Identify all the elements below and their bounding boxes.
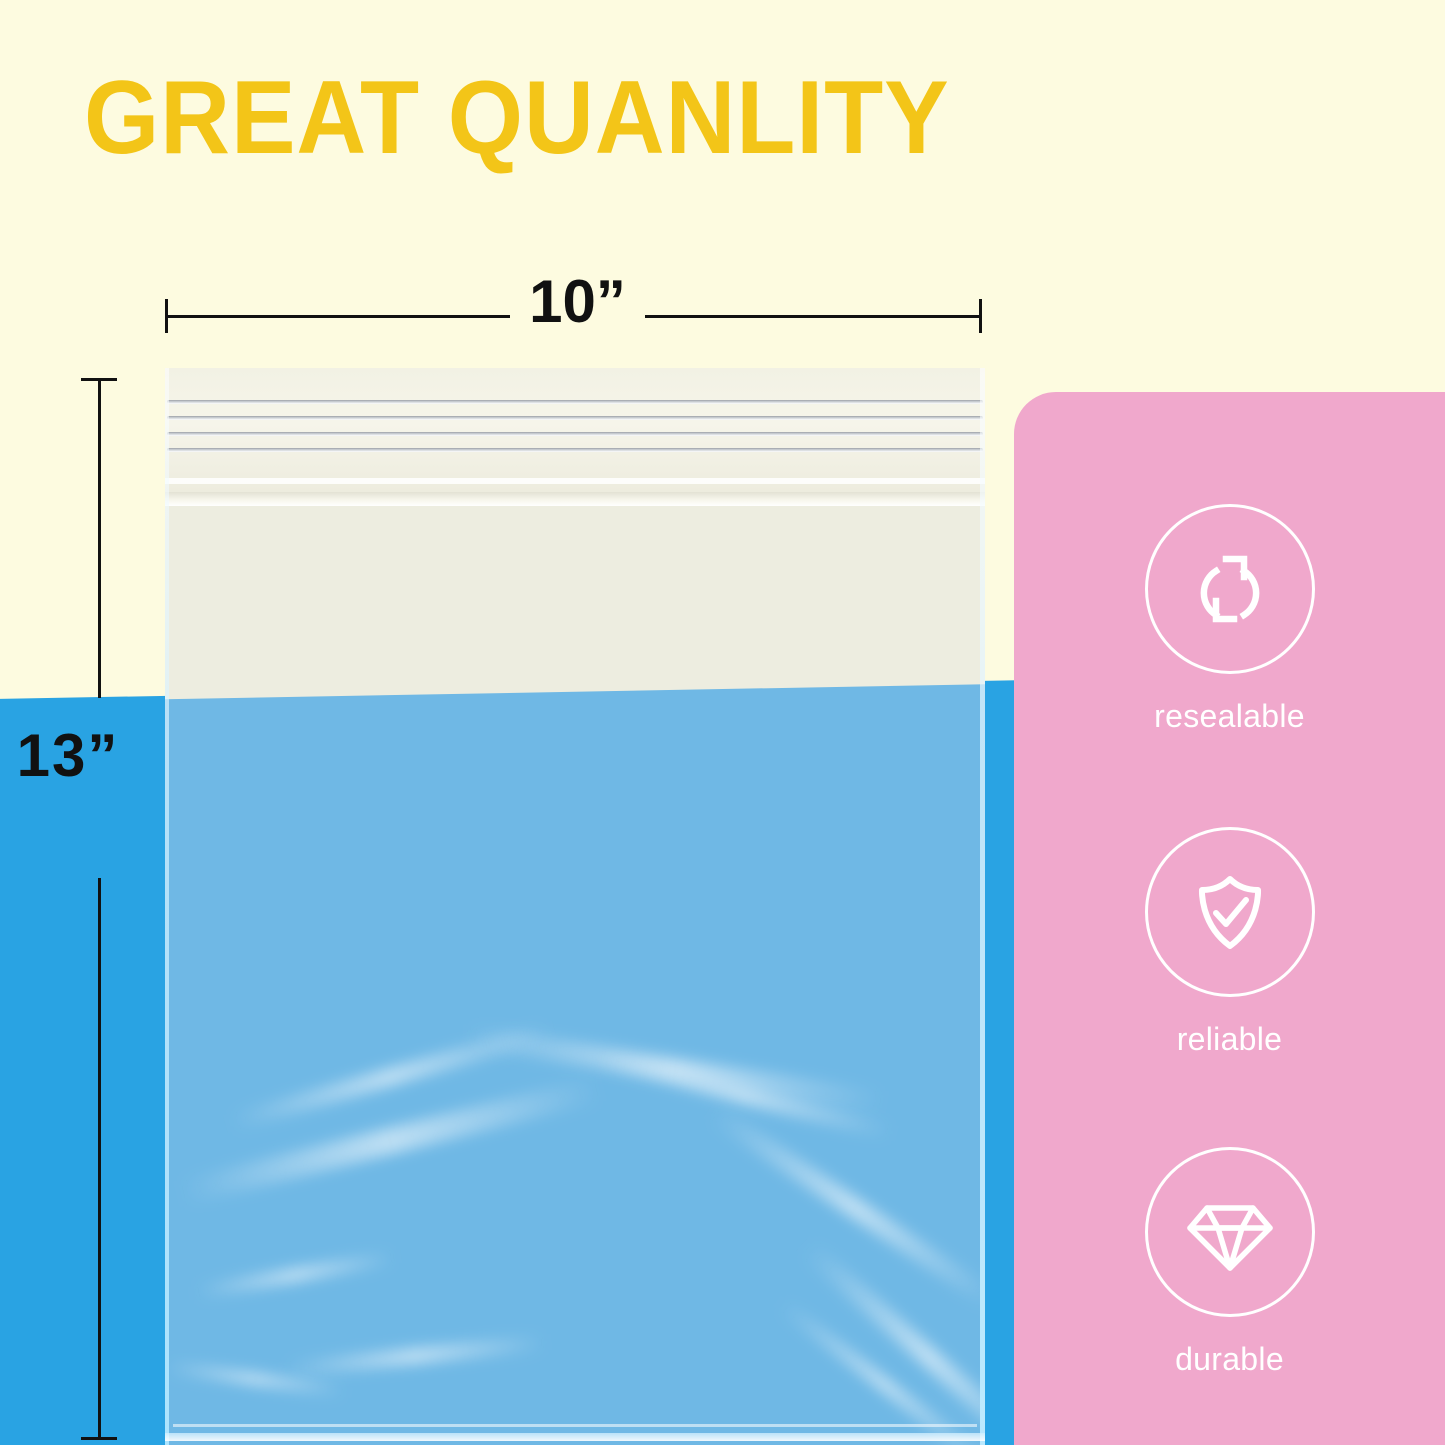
height-dimension-label: 13” [2,726,134,786]
bag-zipper-gusset [165,478,985,484]
diamond-icon [1145,1147,1315,1317]
refresh-loop-icon [1145,504,1315,674]
height-dimension-line: 13” [98,378,100,1440]
bag-seal-seam [165,492,985,506]
bag-lower-body [165,683,985,1445]
feature-item-durable: durable [1014,1147,1445,1375]
bag-edge-left [165,368,169,1445]
zipper-rib [167,400,983,404]
feature-item-resealable: resealable [1014,504,1445,732]
bag-edge-bottom [165,1433,985,1441]
bag-zipper-strip [165,368,985,492]
dimension-line-segment [98,378,101,698]
width-dimension-label: 10” [510,272,645,332]
dimension-line-segment [165,315,510,318]
dimension-end-cap [81,1437,117,1440]
bag-inner-bottom-seam [173,1424,977,1427]
page-title: GREAT QUANLITY [84,66,950,170]
dimension-line-segment [645,315,982,318]
dimension-end-cap [165,299,168,333]
dimension-end-cap [979,299,982,333]
feature-panel: resealable reliable durab [1014,392,1445,1445]
dimension-end-cap [81,378,117,381]
zipper-rib [167,416,983,420]
shield-check-icon [1145,827,1315,997]
feature-item-reliable: reliable [1014,827,1445,1055]
feature-label: durable [1014,1343,1445,1375]
product-bag-image [165,368,985,1445]
width-dimension-line: 10” [165,315,982,317]
product-infographic: GREAT QUANLITY 10” [0,0,1445,1445]
feature-label: reliable [1014,1023,1445,1055]
zipper-rib [167,432,983,436]
dimension-line-segment [98,878,101,1440]
zipper-rib [167,448,983,452]
bag-edge-right [980,368,985,1445]
feature-label: resealable [1014,700,1445,732]
